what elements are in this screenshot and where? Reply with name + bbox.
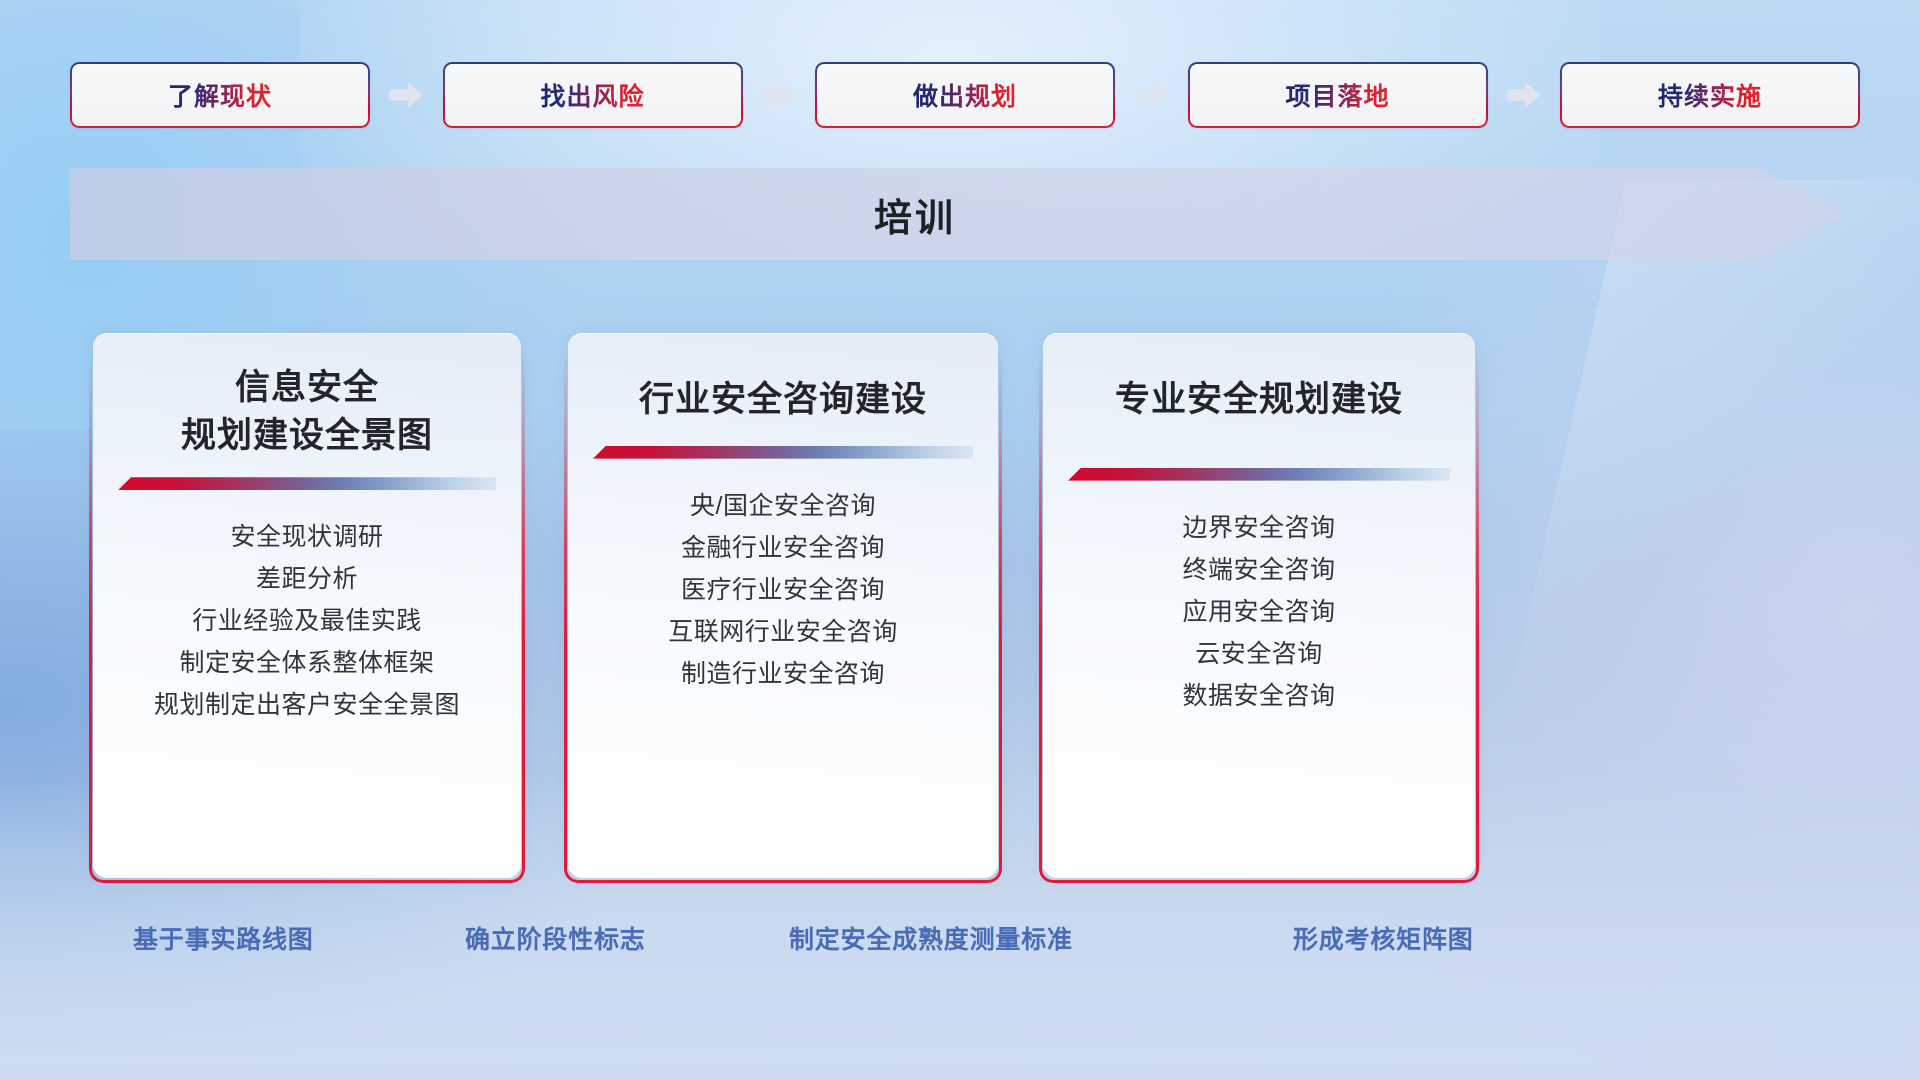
step-label-4: 项目落地 <box>1285 77 1389 113</box>
card-3-list: 边界安全咨询 终端安全咨询 应用安全咨询 云安全咨询 数据安全咨询 <box>1182 507 1335 717</box>
arrow-right-icon <box>1134 82 1168 108</box>
card-1-title: 信息安全 规划建设全景图 <box>181 364 433 459</box>
card-2-list: 央/国企安全咨询 金融行业安全咨询 医疗行业安全咨询 互联网行业安全咨询 制造行… <box>668 485 898 695</box>
card-3-inner: 专业安全规划建设 边界安全咨询 终端安全咨询 应用安全咨询 云安全咨询 数据安全… <box>1043 333 1475 878</box>
footnote-2: 确立阶段性标志 <box>465 920 646 956</box>
list-item: 安全现状调研 <box>154 516 460 558</box>
process-step-flow: 了解现状 找出风险 做出规划 项目落地 持续实施 <box>70 62 1860 128</box>
card-3-divider <box>1068 468 1450 481</box>
footnote-row: 基于事实路线图 确立阶段性标志 制定安全成熟度测量标准 形成考核矩阵图 <box>0 920 1920 970</box>
step-box-3[interactable]: 做出规划 <box>815 62 1115 128</box>
card-1-divider <box>118 477 496 490</box>
list-item: 互联网行业安全咨询 <box>668 611 898 653</box>
banner-title: 培训 <box>70 168 1760 260</box>
card-3-title: 专业安全规划建设 <box>1115 376 1403 424</box>
card-1-inner: 信息安全 规划建设全景图 安全现状调研 差距分析 行业经验及最佳实践 制定安全体… <box>93 333 521 878</box>
card-2[interactable]: 行业安全咨询建设 央/国企安全咨询 金融行业安全咨询 医疗行业安全咨询 互联网行… <box>568 333 998 878</box>
card-2-divider <box>593 446 973 459</box>
list-item: 差距分析 <box>154 558 460 600</box>
step-label-3: 做出规划 <box>913 77 1017 113</box>
list-item: 数据安全咨询 <box>1182 675 1335 717</box>
list-item: 终端安全咨询 <box>1182 549 1335 591</box>
list-item: 金融行业安全咨询 <box>668 527 898 569</box>
step-box-1[interactable]: 了解现状 <box>70 62 370 128</box>
footnote-1: 基于事实路线图 <box>133 920 314 956</box>
card-2-title: 行业安全咨询建设 <box>639 376 927 424</box>
step-box-5[interactable]: 持续实施 <box>1560 62 1860 128</box>
step-label-1: 了解现状 <box>168 77 272 113</box>
list-item: 应用安全咨询 <box>1182 591 1335 633</box>
list-item: 央/国企安全咨询 <box>668 485 898 527</box>
list-item: 规划制定出客户安全全景图 <box>154 684 460 726</box>
list-item: 制造行业安全咨询 <box>668 653 898 695</box>
footnote-4: 形成考核矩阵图 <box>1293 920 1474 956</box>
list-item: 制定安全体系整体框架 <box>154 642 460 684</box>
list-item: 医疗行业安全咨询 <box>668 569 898 611</box>
arrow-right-icon <box>1507 82 1541 108</box>
step-label-5: 持续实施 <box>1658 77 1762 113</box>
footnote-3: 制定安全成熟度测量标准 <box>789 920 1073 956</box>
card-group: 信息安全 规划建设全景图 安全现状调研 差距分析 行业经验及最佳实践 制定安全体… <box>0 333 1920 878</box>
training-banner: 培训 <box>70 168 1848 260</box>
step-box-4[interactable]: 项目落地 <box>1188 62 1488 128</box>
list-item: 边界安全咨询 <box>1182 507 1335 549</box>
step-box-2[interactable]: 找出风险 <box>443 62 743 128</box>
step-label-2: 找出风险 <box>540 77 644 113</box>
arrow-right-icon <box>762 82 796 108</box>
card-1[interactable]: 信息安全 规划建设全景图 安全现状调研 差距分析 行业经验及最佳实践 制定安全体… <box>93 333 521 878</box>
list-item: 云安全咨询 <box>1182 633 1335 675</box>
card-2-inner: 行业安全咨询建设 央/国企安全咨询 金融行业安全咨询 医疗行业安全咨询 互联网行… <box>568 333 998 878</box>
card-1-list: 安全现状调研 差距分析 行业经验及最佳实践 制定安全体系整体框架 规划制定出客户… <box>154 516 460 726</box>
card-3[interactable]: 专业安全规划建设 边界安全咨询 终端安全咨询 应用安全咨询 云安全咨询 数据安全… <box>1043 333 1475 878</box>
arrow-right-icon <box>389 82 423 108</box>
list-item: 行业经验及最佳实践 <box>154 600 460 642</box>
